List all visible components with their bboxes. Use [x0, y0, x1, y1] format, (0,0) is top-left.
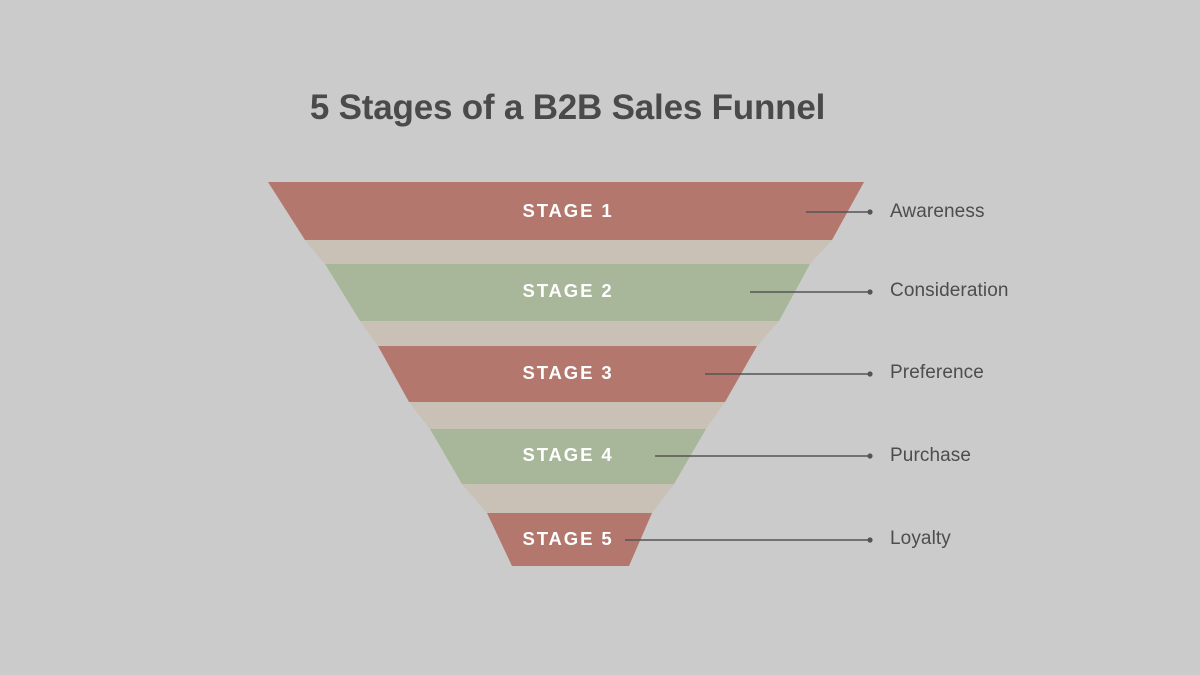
leader-dot-5 — [867, 537, 872, 542]
funnel-side-label-purchase: Purchase — [890, 445, 971, 467]
leader-dot-4 — [867, 453, 872, 458]
funnel-connector-band — [409, 402, 725, 429]
funnel-stage-label-4: STAGE 4 — [522, 444, 613, 465]
funnel-side-label-consideration: Consideration — [890, 280, 1009, 302]
funnel-side-label-preference: Preference — [890, 362, 984, 384]
funnel-stage-label-2: STAGE 2 — [522, 280, 613, 301]
funnel-connector-band — [305, 240, 832, 264]
leader-dot-2 — [867, 289, 872, 294]
leader-dot-1 — [867, 209, 872, 214]
funnel-graphic: STAGE 1STAGE 2STAGE 3STAGE 4STAGE 5 — [0, 0, 1200, 675]
funnel-connector-band — [462, 484, 674, 513]
funnel-stage-label-3: STAGE 3 — [522, 362, 613, 383]
funnel-side-label-loyalty: Loyalty — [890, 528, 951, 550]
funnel-connector-band — [360, 321, 779, 346]
funnel-stage-label-5: STAGE 5 — [522, 528, 613, 549]
funnel-stage-label-1: STAGE 1 — [522, 200, 613, 221]
funnel-diagram-canvas: 5 Stages of a B2B Sales Funnel STAGE 1ST… — [0, 0, 1200, 675]
funnel-side-label-awareness: Awareness — [890, 201, 985, 223]
leader-dot-3 — [867, 371, 872, 376]
